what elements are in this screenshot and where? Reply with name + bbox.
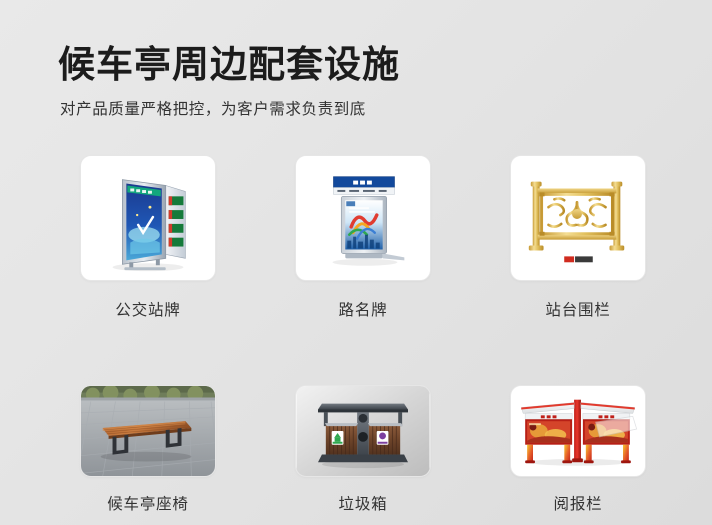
product-card[interactable] (295, 385, 431, 477)
bus-stop-sign-icon (81, 156, 215, 280)
product-cell-trash-bin[interactable]: 垃圾箱 (295, 385, 431, 514)
newspaper-board-icon (511, 386, 645, 476)
product-card[interactable] (510, 155, 646, 281)
product-grid: 公交站牌 (80, 155, 646, 514)
product-card[interactable] (80, 155, 216, 281)
page-title: 候车亭周边配套设施 (58, 44, 400, 87)
product-cell-newspaper-board[interactable]: 阅报栏 (510, 385, 646, 514)
page-subtitle: 对产品质量严格把控，为客户需求负责到底 (60, 97, 400, 119)
trash-bin-icon (296, 386, 430, 476)
product-cell-platform-railing[interactable]: 站台围栏 (510, 155, 646, 320)
product-label: 站台围栏 (545, 298, 610, 320)
shelter-bench-icon (81, 386, 215, 476)
product-label: 垃圾箱 (339, 492, 388, 514)
product-label: 候车亭座椅 (107, 492, 189, 514)
product-row-bottom: 候车亭座椅 (80, 385, 646, 514)
product-card[interactable] (510, 385, 646, 477)
product-label: 阅报栏 (554, 492, 603, 514)
product-label: 路名牌 (339, 298, 388, 320)
product-cell-street-name-sign[interactable]: 路名牌 (295, 155, 431, 320)
page-header: 候车亭周边配套设施 对产品质量严格把控，为客户需求负责到底 (58, 44, 400, 119)
product-card[interactable] (295, 155, 431, 281)
platform-railing-icon (511, 156, 645, 280)
product-cell-shelter-bench[interactable]: 候车亭座椅 (80, 385, 216, 514)
street-name-sign-icon (296, 156, 430, 280)
product-cell-bus-stop-sign[interactable]: 公交站牌 (80, 155, 216, 320)
product-row-top: 公交站牌 (80, 155, 646, 320)
product-card[interactable] (80, 385, 216, 477)
product-label: 公交站牌 (115, 298, 180, 320)
product-showcase-page: 候车亭周边配套设施 对产品质量严格把控，为客户需求负责到底 (0, 0, 712, 525)
